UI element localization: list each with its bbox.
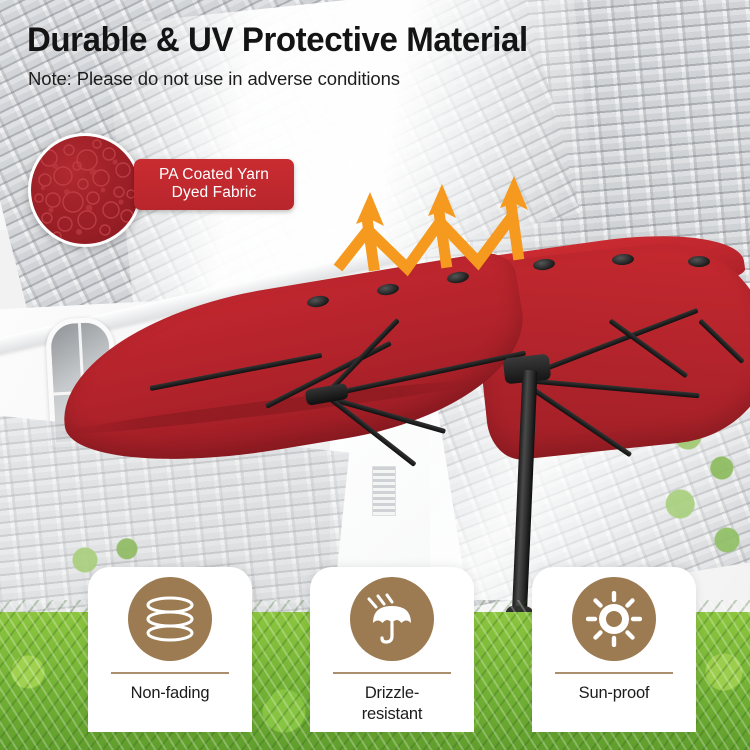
fabric-layers-glyph — [141, 595, 199, 643]
feature-card-sun-proof: Sun-proof — [532, 567, 696, 732]
feature-label-non-fading: Non-fading — [125, 683, 216, 704]
card-divider — [555, 672, 673, 674]
sun-icon — [572, 577, 656, 661]
card-divider — [111, 672, 229, 674]
feature-card-non-fading: Non-fading — [88, 567, 252, 732]
feature-cards: Non-fading Drizzle-resistant — [0, 0, 750, 750]
feature-label-drizzle-resistant: Drizzle-resistant — [356, 683, 429, 725]
sun-glyph — [586, 591, 642, 647]
feature-card-drizzle-resistant: Drizzle-resistant — [310, 567, 474, 732]
fabric-layers-icon — [128, 577, 212, 661]
umbrella-rain-glyph — [363, 593, 421, 645]
product-feature-image: PA Coated Yarn Dyed Fabric Durable & UV … — [0, 0, 750, 750]
feature-label-sun-proof: Sun-proof — [573, 683, 656, 704]
card-divider — [333, 672, 451, 674]
umbrella-rain-icon — [350, 577, 434, 661]
